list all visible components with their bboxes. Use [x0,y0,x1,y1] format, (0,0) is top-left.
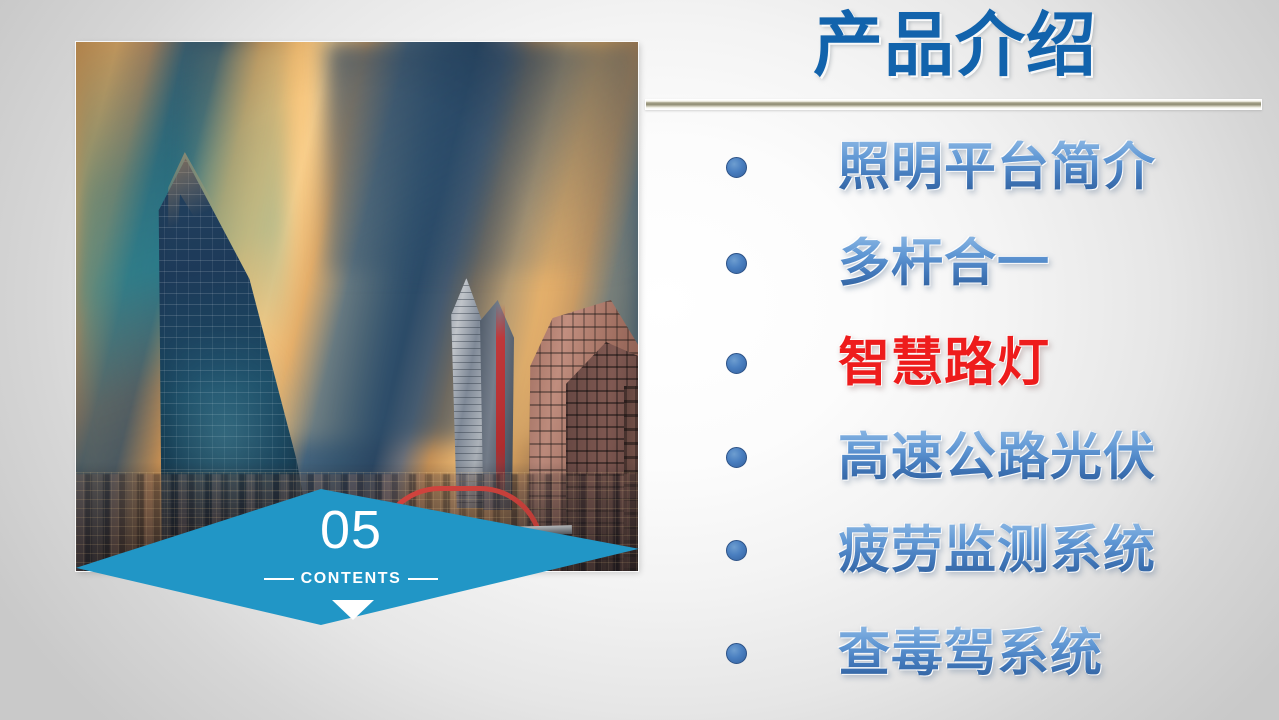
circle-bullet-icon [726,353,747,374]
city-skyline-photo [76,42,638,571]
list-item-label: 照明平台简介 [838,141,1156,196]
contents-right-rule [408,578,438,580]
agenda-list: 照明平台简介 多杆合一 智慧路灯 高速公路光伏 疲劳监测系统 查毒驾系统 [645,128,1265,698]
presentation-slide: 05 CONTENTS 产品介绍 照明平台简介 多杆合一 智慧路灯 高速公路光伏… [0,0,1279,720]
list-item-label: 高速公路光伏 [838,431,1156,486]
list-item[interactable]: 疲劳监测系统 [645,511,1265,591]
list-item[interactable]: 智慧路灯 [645,324,1265,404]
circle-bullet-icon [726,157,747,178]
list-item-label: 疲劳监测系统 [838,524,1156,579]
list-item[interactable]: 高速公路光伏 [645,418,1265,498]
circle-bullet-icon [726,253,747,274]
contents-label: CONTENTS [301,570,402,588]
triangle-down-icon [332,600,374,620]
contents-left-rule [264,578,294,580]
list-item-label: 多杆合一 [838,237,1050,292]
list-item-label: 查毒驾系统 [838,627,1103,682]
list-item[interactable]: 查毒驾系统 [645,614,1265,694]
circle-bullet-icon [726,447,747,468]
circle-bullet-icon [726,643,747,664]
list-item[interactable]: 照明平台简介 [645,128,1265,208]
page-title: 产品介绍 [645,6,1265,84]
circle-bullet-icon [726,540,747,561]
contents-label-row: CONTENTS [216,570,486,588]
title-divider [645,99,1262,110]
list-item[interactable]: 多杆合一 [645,224,1265,304]
photo-vignette [76,42,638,571]
contents-number: 05 [256,503,446,557]
list-item-label: 智慧路灯 [838,337,1050,392]
